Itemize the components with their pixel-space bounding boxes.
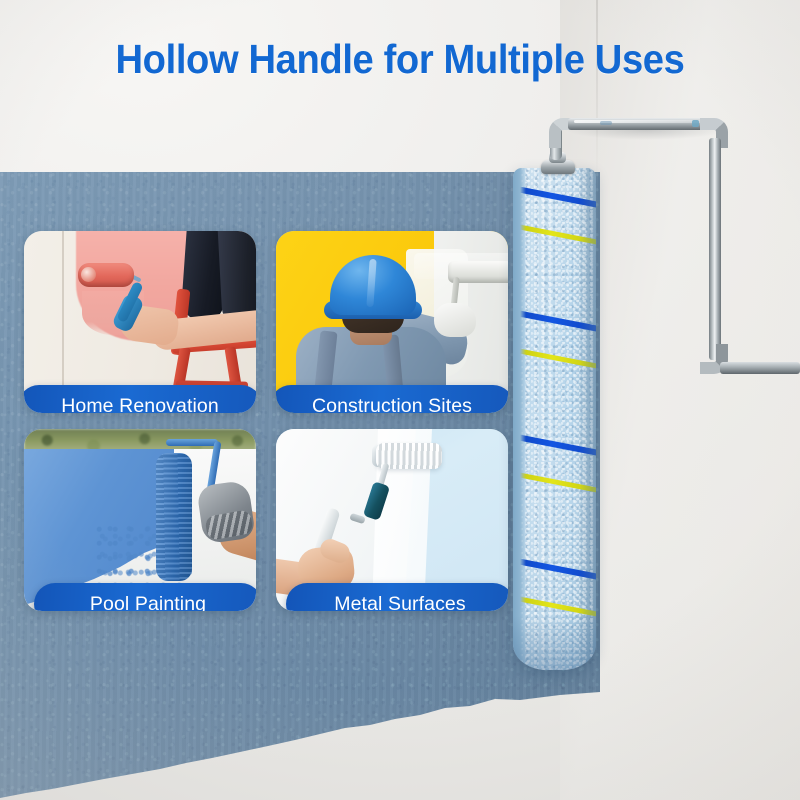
use-case-label-construction-sites: Construction Sites [276,385,508,413]
use-case-label-pool-painting: Pool Painting [34,583,256,611]
use-case-label-home-renovation: Home Renovation [24,385,256,413]
use-case-label-metal-surfaces: Metal Surfaces [286,583,508,611]
product-feature-poster: Hollow Handle for Multiple Uses Home Ren… [0,0,800,800]
